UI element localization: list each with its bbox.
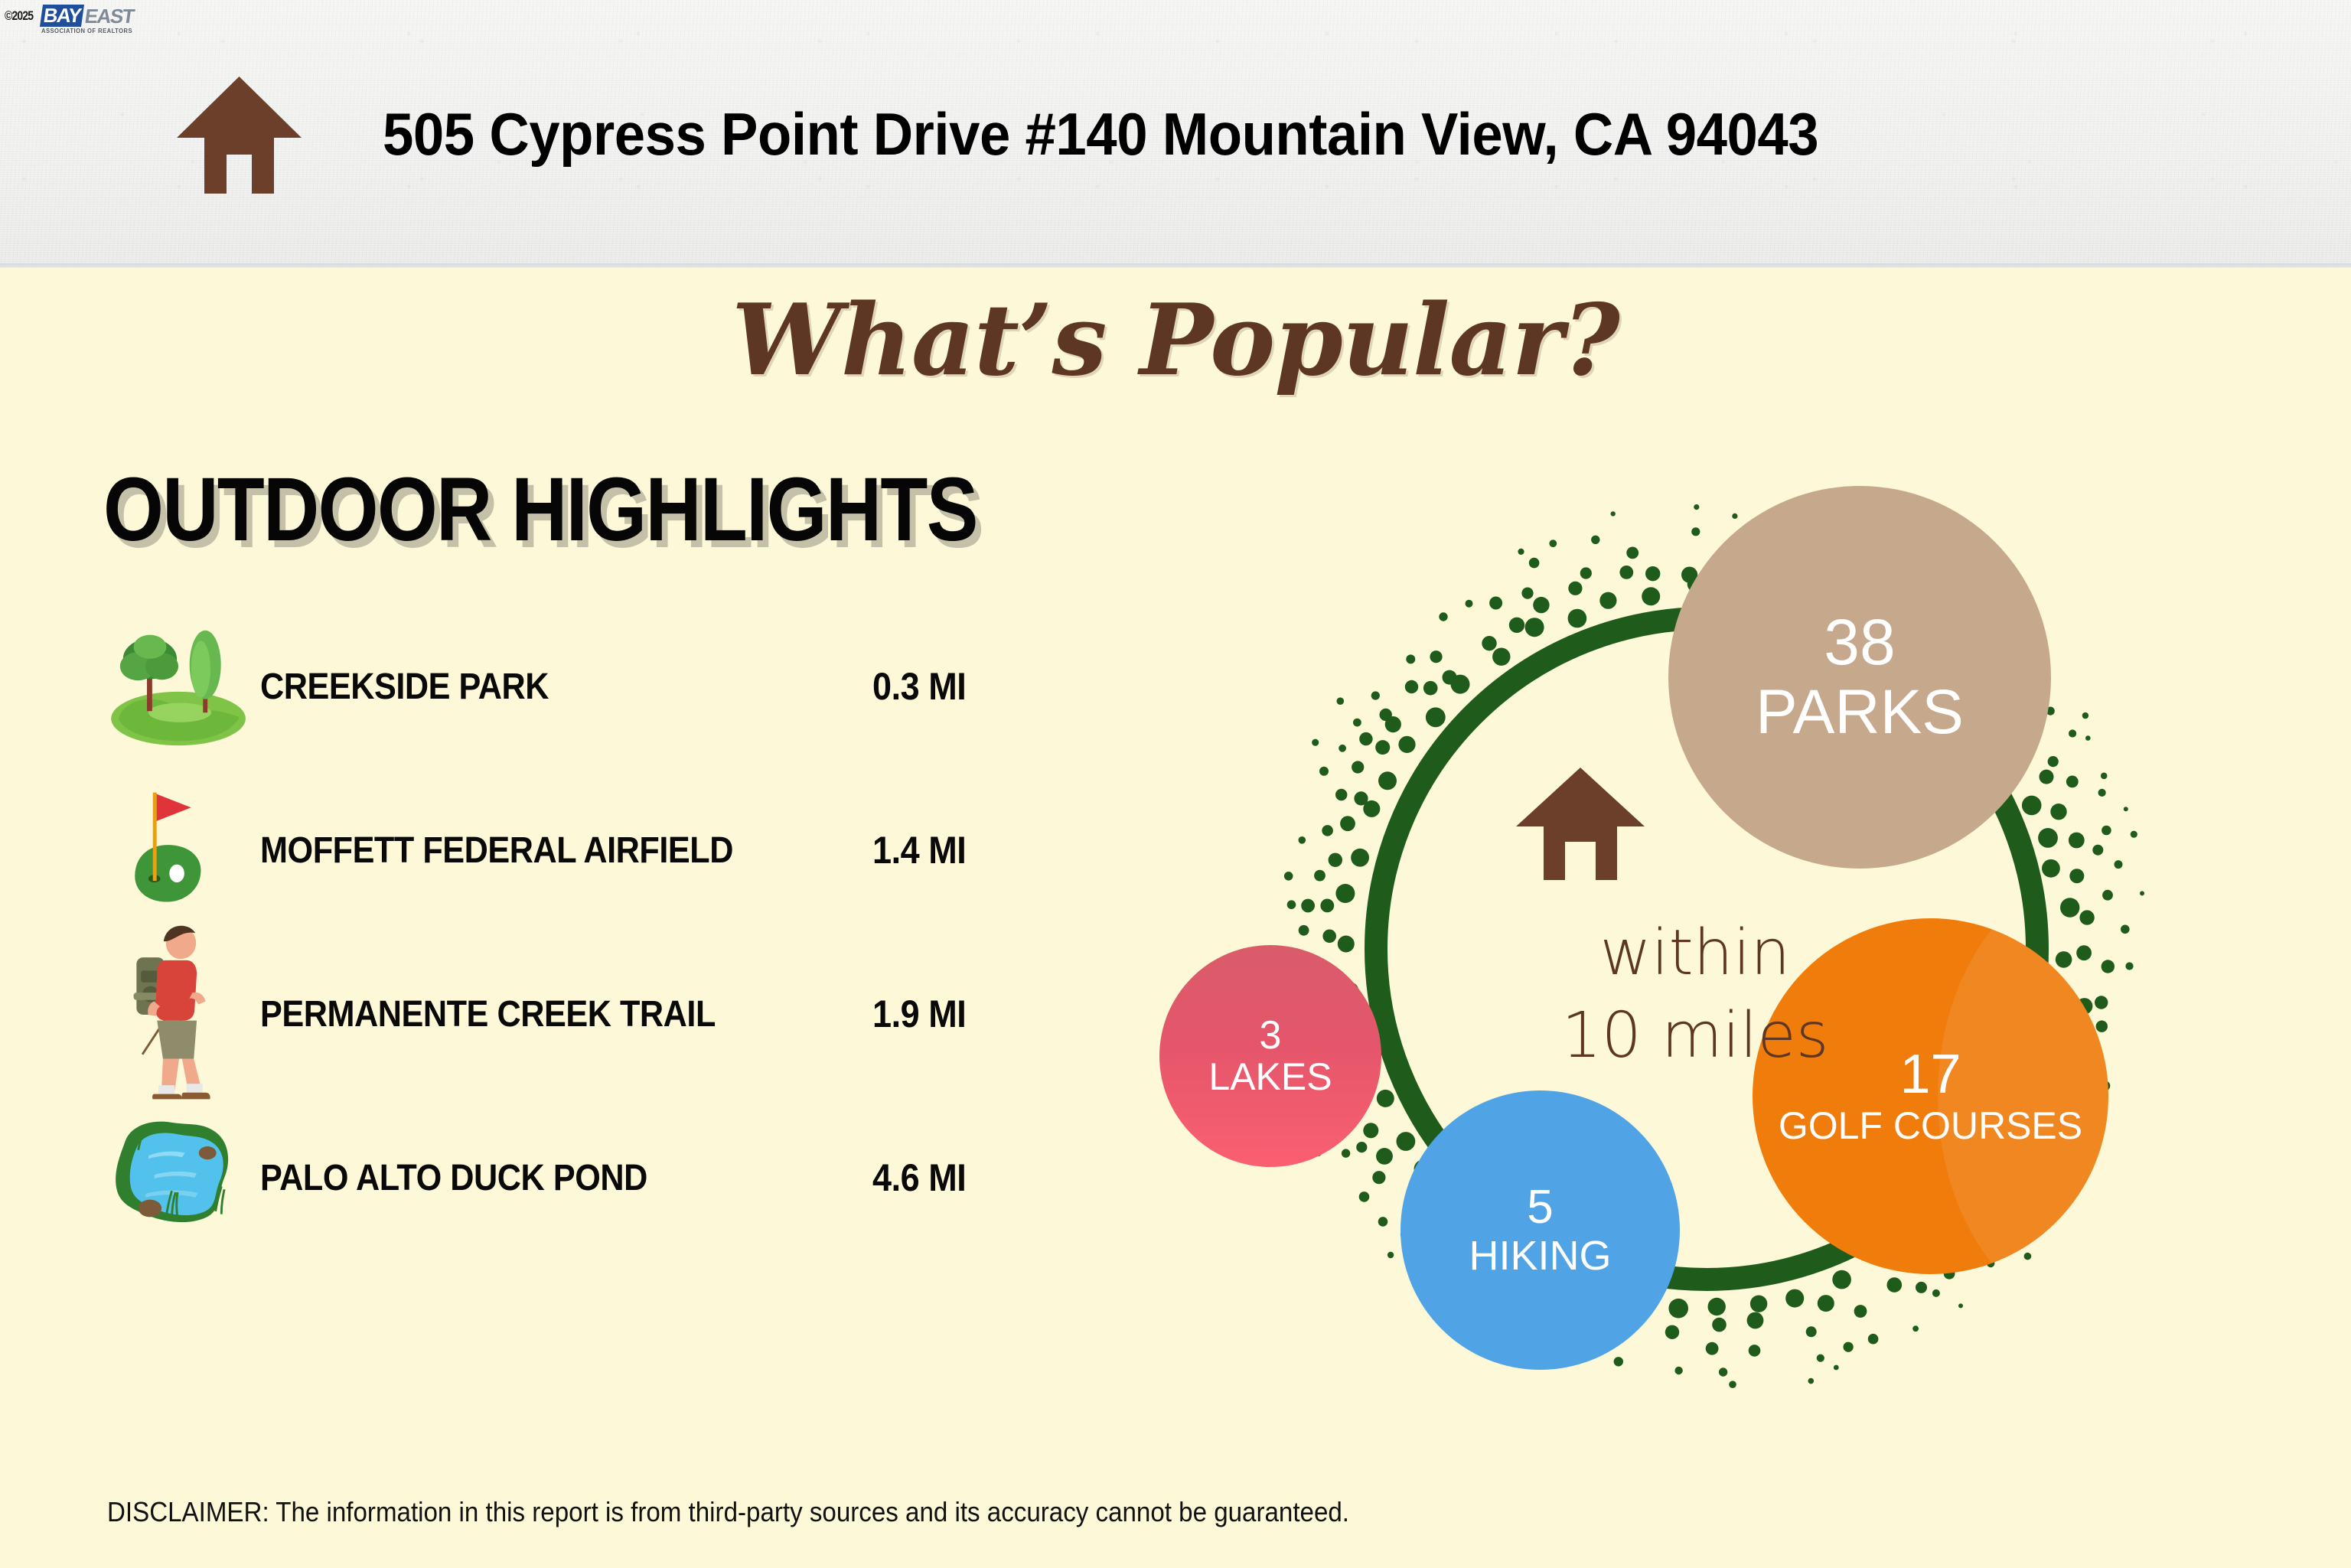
amenities-ring-diagram: 38 PARKS 17 GOLF COURSES 5 HIKING 3 LAKE… [1179, 459, 2327, 1531]
brand-name-secondary: EAST [82, 6, 135, 26]
list-item-name: CREEKSIDE PARK [260, 666, 1101, 708]
bubble-hiking-label: HIKING [1469, 1235, 1611, 1277]
list-item-distance: 4.6 MI [872, 1156, 966, 1200]
brand-wordmark: BAYEAST [41, 5, 137, 27]
bubble-lakes-value: 3 [1260, 1015, 1282, 1056]
page-title: What’s Popular? [0, 283, 2351, 398]
brand-copyright: ©2025 [5, 9, 33, 22]
brand-name-primary: BAY [40, 5, 84, 27]
bubble-hiking[interactable]: 5 HIKING [1400, 1090, 1680, 1370]
bubble-golf-label: GOLF COURSES [1779, 1107, 2082, 1146]
house-icon [1630, 765, 1760, 880]
page-header: ©2025 BAYEAST ASSOCIATION OF REALTORS 50… [0, 0, 2351, 268]
bubble-golf-value: 17 [1899, 1047, 1961, 1103]
outdoor-highlights-list: CREEKSIDE PARK 0.3 MI MOFFETT FEDERAL AI… [99, 605, 1194, 1260]
house-icon [176, 75, 302, 194]
list-item-name: MOFFETT FEDERAL AIRFIELD [260, 830, 1101, 872]
section-heading-outdoor-highlights: OUTDOOR HIGHLIGHTS [103, 458, 977, 562]
list-item-distance: 1.4 MI [872, 828, 966, 872]
disclaimer-text: DISCLAIMER: The information in this repo… [107, 1496, 1349, 1528]
hiker-icon [99, 941, 260, 1087]
bubble-parks-value: 38 [1824, 610, 1895, 676]
bubble-hiking-value: 5 [1527, 1183, 1553, 1231]
diagram-center: within 10 miles [1515, 765, 1875, 1077]
list-item-name: PALO ALTO DUCK POND [260, 1157, 1101, 1199]
pond-icon [99, 1105, 260, 1250]
golf-green-flag-icon [99, 777, 260, 923]
brand-logo: ©2025 BAYEAST ASSOCIATION OF REALTORS [5, 5, 138, 34]
bubble-parks-label: PARKS [1756, 680, 1964, 745]
list-item-distance: 1.9 MI [872, 992, 966, 1036]
brand-mark: BAYEAST ASSOCIATION OF REALTORS [41, 5, 137, 34]
list-item-distance: 0.3 MI [872, 664, 966, 709]
list-item-name: PERMANENTE CREEK TRAIL [260, 993, 1101, 1035]
bubble-lakes-label: LAKES [1208, 1058, 1332, 1097]
list-item: MOFFETT FEDERAL AIRFIELD 1.4 MI [99, 768, 1194, 932]
brand-tagline: ASSOCIATION OF REALTORS [41, 28, 132, 34]
property-address: 505 Cypress Point Drive #140 Mountain Vi… [383, 0, 1818, 268]
park-trees-icon [99, 614, 260, 759]
list-item: CREEKSIDE PARK 0.3 MI [99, 605, 1194, 768]
bubble-lakes[interactable]: 3 LAKES [1159, 945, 1381, 1167]
diagram-center-line1: within [1515, 912, 1875, 995]
list-item: PERMANENTE CREEK TRAIL 1.9 MI [99, 932, 1194, 1096]
diagram-center-line2: 10 miles [1515, 995, 1875, 1077]
list-item: PALO ALTO DUCK POND 4.6 MI [99, 1096, 1194, 1260]
